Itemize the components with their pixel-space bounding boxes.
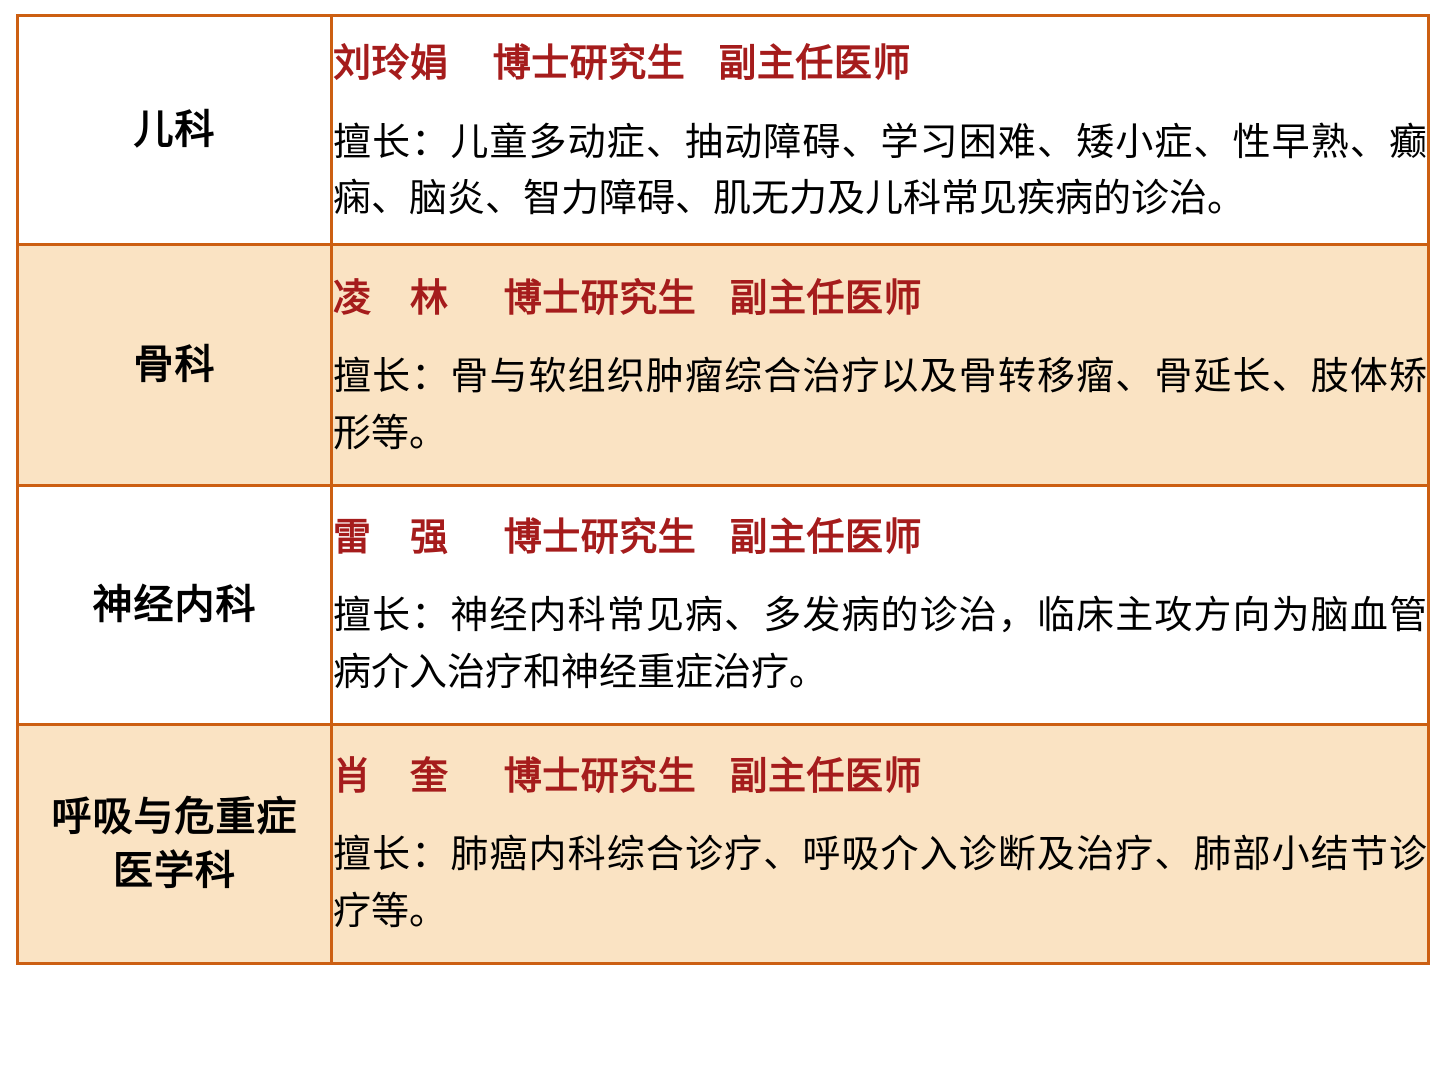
department-cell: 儿科: [18, 16, 332, 245]
doctor-header-line: 凌 林 博士研究生 副主任医师: [333, 276, 1427, 324]
department-label: 骨科: [19, 338, 330, 392]
table-row: 骨科 凌 林 博士研究生 副主任医师 擅长：骨与软组织肿瘤综合治疗以及骨转移瘤、…: [18, 244, 1429, 485]
table-row: 儿科 刘玲娟 博士研究生 副主任医师 擅长：儿童多动症、抽动障碍、学习困难、矮小…: [18, 16, 1429, 245]
doctor-info-cell: 凌 林 博士研究生 副主任医师 擅长：骨与软组织肿瘤综合治疗以及骨转移瘤、骨延长…: [332, 244, 1429, 485]
doctor-specialty-text: 擅长：骨与软组织肿瘤综合治疗以及骨转移瘤、骨延长、肢体矫形等。: [333, 349, 1427, 461]
department-label: 儿科: [19, 103, 330, 157]
doctor-roster-table: 儿科 刘玲娟 博士研究生 副主任医师 擅长：儿童多动症、抽动障碍、学习困难、矮小…: [16, 14, 1430, 965]
doctor-header-line: 雷 强 博士研究生 副主任医师: [333, 515, 1427, 563]
doctor-specialty-text: 擅长：肺癌内科综合诊疗、呼吸介入诊断及治疗、肺部小结节诊疗等。: [333, 827, 1427, 939]
department-cell: 呼吸与危重症 医学科: [18, 724, 332, 963]
table-row: 呼吸与危重症 医学科 肖 奎 博士研究生 副主任医师 擅长：肺癌内科综合诊疗、呼…: [18, 724, 1429, 963]
doctor-header-line: 刘玲娟 博士研究生 副主任医师: [333, 41, 1427, 89]
department-cell: 骨科: [18, 244, 332, 485]
department-cell: 神经内科: [18, 485, 332, 724]
doctor-info-cell: 雷 强 博士研究生 副主任医师 擅长：神经内科常见病、多发病的诊治，临床主攻方向…: [332, 485, 1429, 724]
department-label: 呼吸与危重症 医学科: [19, 790, 330, 898]
doctor-info-cell: 刘玲娟 博士研究生 副主任医师 擅长：儿童多动症、抽动障碍、学习困难、矮小症、性…: [332, 16, 1429, 245]
doctor-specialty-text: 擅长：儿童多动症、抽动障碍、学习困难、矮小症、性早熟、癫痫、脑炎、智力障碍、肌无…: [333, 115, 1427, 227]
document-page: 儿科 刘玲娟 博士研究生 副主任医师 擅长：儿童多动症、抽动障碍、学习困难、矮小…: [0, 0, 1442, 1084]
table-row: 神经内科 雷 强 博士研究生 副主任医师 擅长：神经内科常见病、多发病的诊治，临…: [18, 485, 1429, 724]
table-body: 儿科 刘玲娟 博士研究生 副主任医师 擅长：儿童多动症、抽动障碍、学习困难、矮小…: [18, 16, 1429, 964]
doctor-info-cell: 肖 奎 博士研究生 副主任医师 擅长：肺癌内科综合诊疗、呼吸介入诊断及治疗、肺部…: [332, 724, 1429, 963]
department-label: 神经内科: [19, 578, 330, 632]
doctor-header-line: 肖 奎 博士研究生 副主任医师: [333, 754, 1427, 802]
doctor-specialty-text: 擅长：神经内科常见病、多发病的诊治，临床主攻方向为脑血管病介入治疗和神经重症治疗…: [333, 588, 1427, 700]
